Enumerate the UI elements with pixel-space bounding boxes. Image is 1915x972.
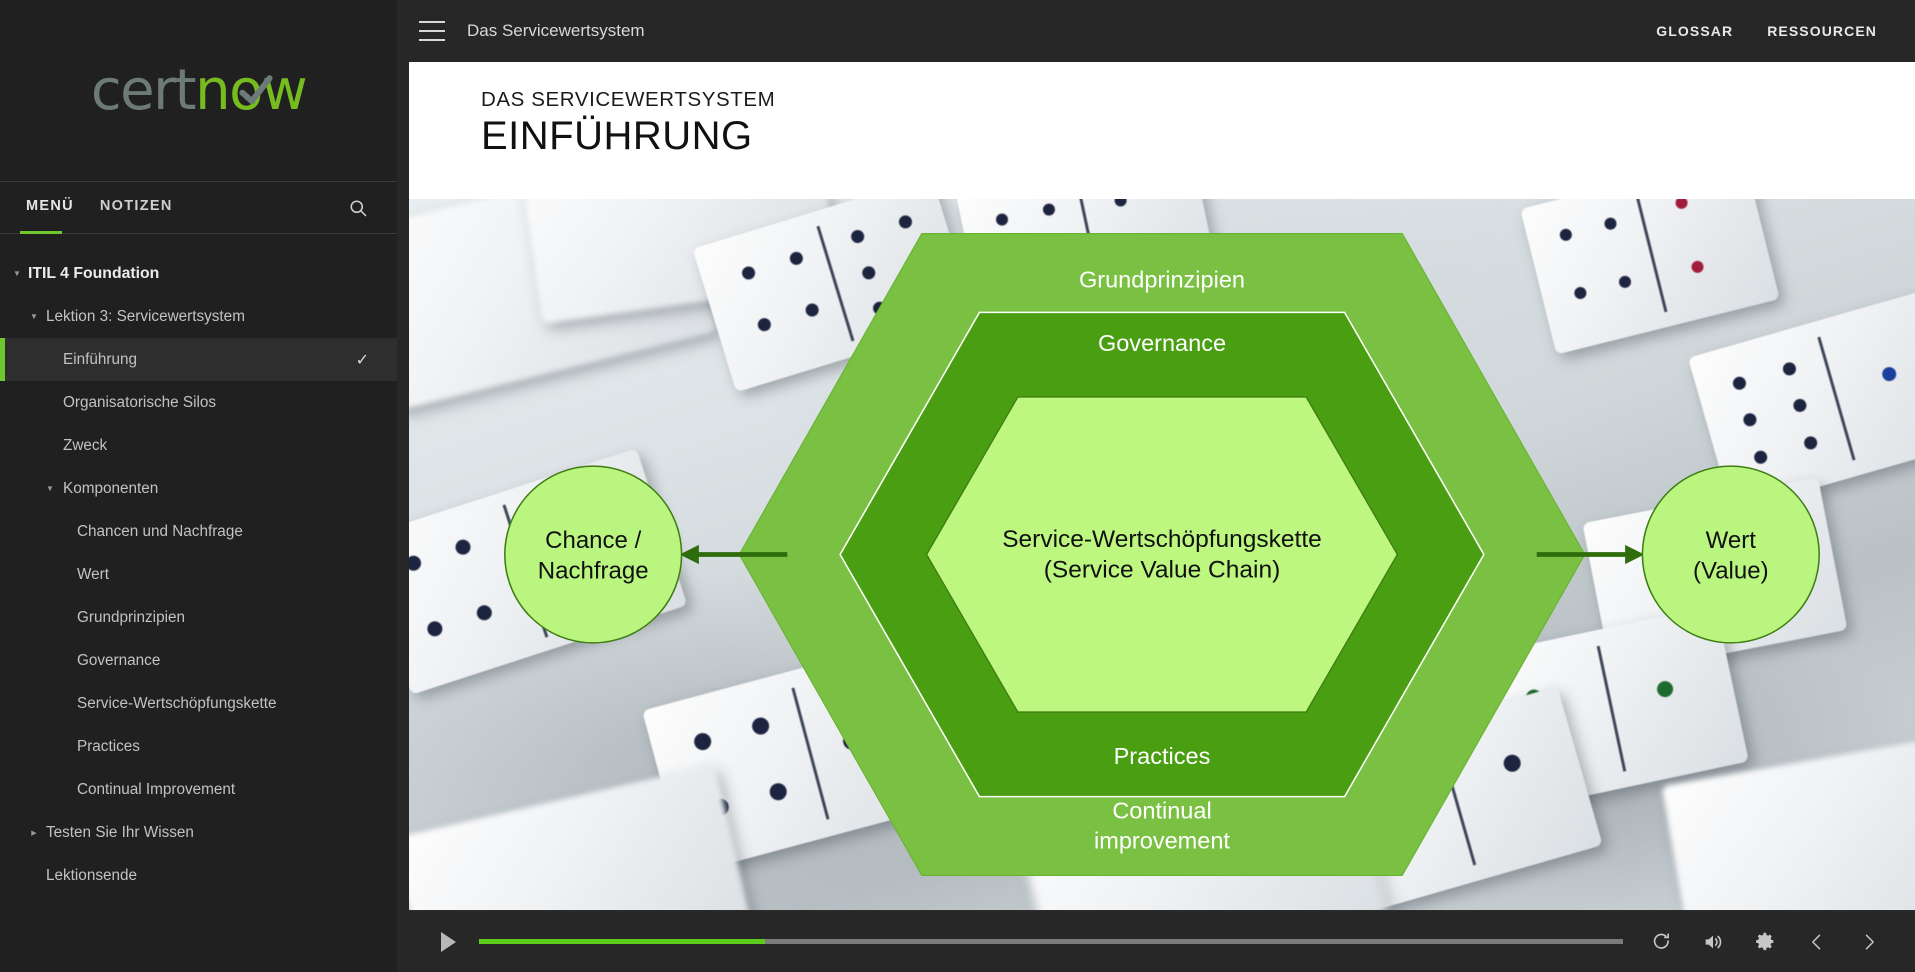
sidebar-item-itil-4-foundation[interactable]: ▼ITIL 4 Foundation [0, 252, 397, 295]
previous-icon[interactable] [1805, 930, 1829, 954]
page-title: Das Servicewertsystem [467, 21, 645, 41]
glossar-link[interactable]: GLOSSAR [1656, 23, 1733, 39]
chevron-down-icon[interactable]: ▼ [11, 268, 23, 280]
sidebar-item-label: Komponenten [63, 480, 158, 498]
gear-icon[interactable] [1753, 930, 1777, 954]
sidebar-item-label: Lektion 3: Servicewertsystem [46, 308, 245, 326]
slide-stage: DAS SERVICEWERTSYSTEM EINFÜHRUNG [409, 62, 1915, 910]
svg-diagram: Chance / Nachfrage Wert (Value) Grundpri… [409, 199, 1915, 910]
sidebar-item-label: Practices [77, 738, 140, 756]
sidebar-item-label: Testen Sie Ihr Wissen [46, 824, 194, 842]
hex-core-service-value-chain [927, 397, 1398, 712]
player-controls [1649, 930, 1881, 954]
app-root: certnow MENÜ NOTIZEN ▼ITIL 4 Foundation▼… [0, 0, 1915, 972]
slide-kicker: DAS SERVICEWERTSYSTEM [481, 88, 1915, 112]
sidebar-item-governance[interactable]: Governance [0, 639, 397, 682]
main-panel: Das Servicewertsystem GLOSSAR RESSOURCEN… [397, 0, 1915, 972]
progress-fill [479, 939, 765, 944]
top-bar: Das Servicewertsystem GLOSSAR RESSOURCEN [397, 0, 1915, 62]
certnow-logo[interactable]: certnow [91, 58, 306, 123]
next-icon[interactable] [1857, 930, 1881, 954]
logo-area: certnow [0, 0, 397, 182]
hamburger-icon[interactable] [419, 21, 445, 41]
sidebar-item-komponenten[interactable]: ▼Komponenten [0, 467, 397, 510]
sidebar-item-organisatorische-silos[interactable]: Organisatorische Silos [0, 381, 397, 424]
sidebar-item-label: Chancen und Nachfrage [77, 523, 243, 541]
right-circle-line2: (Value) [1693, 558, 1769, 585]
volume-icon[interactable] [1701, 930, 1725, 954]
sidebar-item-wert[interactable]: Wert [0, 553, 397, 596]
circle-wert-value [1642, 466, 1819, 643]
tab-menu[interactable]: MENÜ [26, 198, 74, 218]
sidebar-item-label: Zweck [63, 437, 107, 455]
sidebar-item-label: Governance [77, 652, 160, 670]
sidebar-item-label: Continual Improvement [77, 781, 235, 799]
course-navigation: ▼ITIL 4 Foundation▼Lektion 3: Servicewer… [0, 234, 397, 972]
sidebar-item-label: Service-Wertschöpfungskette [77, 695, 277, 713]
sidebar-item-label: Wert [77, 566, 109, 584]
sidebar-item-chancen-und-nachfrage[interactable]: Chancen und Nachfrage [0, 510, 397, 553]
logo-text-cert: cert [91, 58, 195, 123]
tab-notizen[interactable]: NOTIZEN [100, 198, 173, 218]
slide-canvas: Chance / Nachfrage Wert (Value) Grundpri… [409, 199, 1915, 910]
sidebar-item-service-wertsch-pfungskette[interactable]: Service-Wertschöpfungskette [0, 682, 397, 725]
sidebar-item-label: Grundprinzipien [77, 609, 185, 627]
right-circle-line1: Wert [1706, 527, 1757, 554]
sidebar-item-continual-improvement[interactable]: Continual Improvement [0, 768, 397, 811]
sidebar-tabs: MENÜ NOTIZEN [0, 182, 397, 234]
sidebar-item-grundprinzipien[interactable]: Grundprinzipien [0, 596, 397, 639]
sidebar-item-lektionsende[interactable]: Lektionsende [0, 854, 397, 897]
sidebar-item-label: Organisatorische Silos [63, 394, 216, 412]
label-core-line2: (Service Value Chain) [1044, 557, 1280, 584]
check-icon [239, 74, 273, 108]
sidebar-item-lektion-3-servicewertsystem[interactable]: ▼Lektion 3: Servicewertsystem [0, 295, 397, 338]
service-value-system-diagram: Chance / Nachfrage Wert (Value) Grundpri… [409, 199, 1915, 910]
slide-heading: EINFÜHRUNG [481, 114, 1915, 159]
label-core-line1: Service-Wertschöpfungskette [1002, 526, 1322, 553]
chevron-down-icon[interactable]: ▼ [28, 311, 40, 323]
ressourcen-link[interactable]: RESSOURCEN [1767, 23, 1877, 39]
sidebar-item-einf-hrung[interactable]: Einführung✓ [0, 338, 397, 381]
sidebar: certnow MENÜ NOTIZEN ▼ITIL 4 Foundation▼… [0, 0, 397, 972]
circle-chance-nachfrage [505, 466, 682, 643]
logo-text-n: n [195, 58, 229, 123]
sidebar-item-label: ITIL 4 Foundation [28, 265, 159, 283]
left-circle-line2: Nachfrage [538, 558, 649, 585]
sidebar-item-practices[interactable]: Practices [0, 725, 397, 768]
top-bar-links: GLOSSAR RESSOURCEN [1656, 23, 1877, 39]
chevron-down-icon[interactable]: ▼ [44, 483, 56, 495]
label-practices: Practices [1114, 743, 1211, 769]
label-grundprinzipien: Grundprinzipien [1079, 266, 1245, 292]
sidebar-item-testen-sie-ihr-wissen[interactable]: ▶Testen Sie Ihr Wissen [0, 811, 397, 854]
logo-text-o: o [229, 58, 262, 123]
replay-icon[interactable] [1649, 930, 1673, 954]
search-icon[interactable] [345, 195, 371, 221]
slide-title-block: DAS SERVICEWERTSYSTEM EINFÜHRUNG [409, 62, 1915, 199]
label-continual-line2: improvement [1094, 828, 1230, 854]
sidebar-item-zweck[interactable]: Zweck [0, 424, 397, 467]
left-circle-line1: Chance / [545, 527, 641, 554]
sidebar-item-label: Einführung [63, 351, 137, 369]
sidebar-item-label: Lektionsende [46, 867, 137, 885]
label-governance: Governance [1098, 330, 1226, 356]
completed-check-icon: ✓ [356, 350, 369, 370]
chevron-right-icon[interactable]: ▶ [28, 827, 40, 839]
tab-active-indicator [20, 231, 62, 234]
player-bar [409, 910, 1915, 972]
progress-scrubber[interactable] [479, 939, 1623, 944]
label-continual-line1: Continual [1112, 798, 1211, 824]
play-icon[interactable] [433, 927, 463, 957]
